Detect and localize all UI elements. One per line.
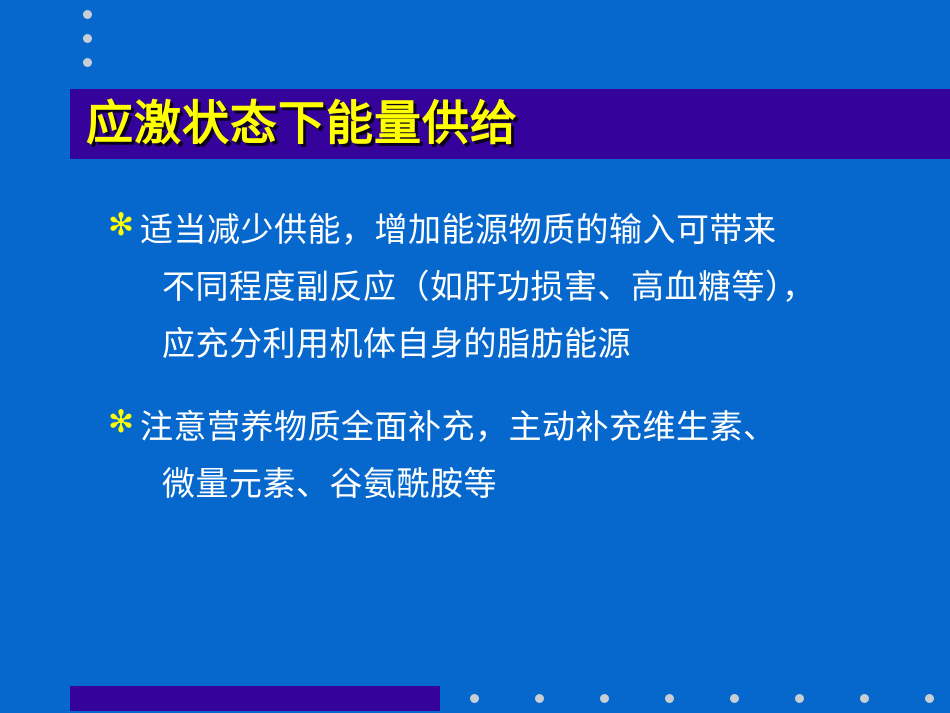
decorative-dot-icon: [83, 10, 92, 19]
decorative-dot-icon: [600, 694, 609, 703]
decorative-dot-icon: [665, 694, 674, 703]
decorative-dot-icon: [730, 694, 739, 703]
decorative-dot-icon: [470, 694, 479, 703]
slide-title: 应激状态下能量供给: [86, 101, 518, 148]
asterisk-flower-bullet-icon: ✻: [108, 402, 138, 442]
bullet-line: 应充分利用机体自身的脂肪能源: [140, 317, 908, 374]
decorative-dot-icon: [535, 694, 544, 703]
slide-canvas: 应激状态下能量供给 ✻ 适当减少供能，增加能源物质的输入可带来 不同程度副反应（…: [0, 0, 950, 713]
bullet-text-block: 适当减少供能，增加能源物质的输入可带来 不同程度副反应（如肝功损害、高血糖等），…: [140, 203, 908, 374]
bottom-accent-bar: [70, 686, 440, 711]
decorative-dot-icon: [795, 694, 804, 703]
decorative-dot-icon: [860, 694, 869, 703]
decorative-dot-icon: [83, 58, 92, 67]
bullet-line: 微量元素、谷氨酰胺等: [140, 457, 908, 514]
bullet-line: 不同程度副反应（如肝功损害、高血糖等），: [140, 260, 908, 317]
bullet-line: 注意营养物质全面补充，主动补充维生素、: [140, 400, 908, 457]
bullet-line: 适当减少供能，增加能源物质的输入可带来: [140, 203, 908, 260]
bullet-text-block: 注意营养物质全面补充，主动补充维生素、 微量元素、谷氨酰胺等: [140, 400, 908, 514]
bullet-item: ✻ 适当减少供能，增加能源物质的输入可带来 不同程度副反应（如肝功损害、高血糖等…: [108, 203, 908, 374]
decorative-dot-icon: [925, 694, 934, 703]
slide-body: ✻ 适当减少供能，增加能源物质的输入可带来 不同程度副反应（如肝功损害、高血糖等…: [108, 203, 908, 514]
bottom-dot-decoration: [470, 694, 940, 704]
top-left-dot-decoration: [83, 10, 95, 72]
bullet-item: ✻ 注意营养物质全面补充，主动补充维生素、 微量元素、谷氨酰胺等: [108, 400, 908, 514]
title-band: 应激状态下能量供给: [70, 89, 950, 159]
decorative-dot-icon: [83, 34, 92, 43]
asterisk-flower-bullet-icon: ✻: [108, 205, 138, 245]
